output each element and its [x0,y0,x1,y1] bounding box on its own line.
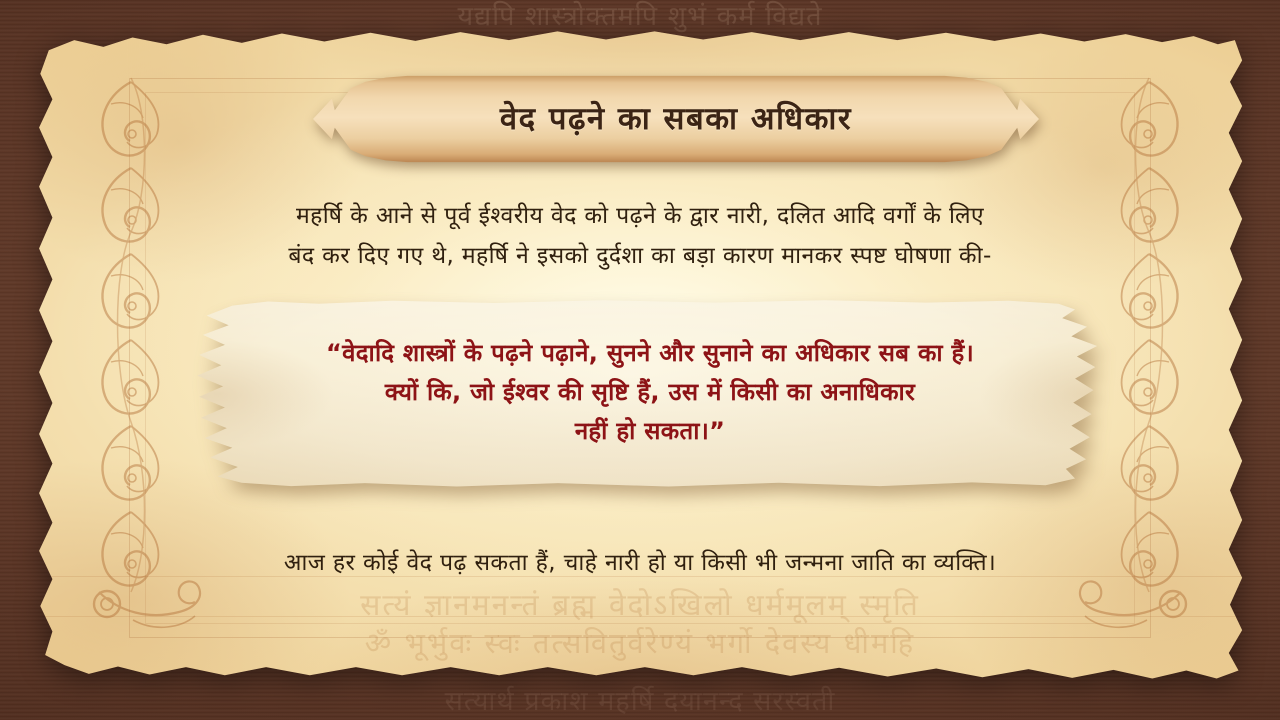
intro-paragraph: महर्षि के आने से पूर्व ईश्वरीय वेद को पढ… [140,196,1140,276]
quote-line-2: क्यों कि, जो ईश्वर की सृष्टि हैं, उस में… [385,373,915,412]
quote-panel: “वेदादि शास्त्रों के पढ़ने पढ़ाने, सुनने… [190,298,1110,490]
closing-line: आज हर कोई वेद पढ़ सकता हैं, चाहे नारी हो… [140,544,1140,582]
manuscript-watermark-line-4: ॐ भूर्भुवः स्वः तत्सवितुर्वरेण्यं भर्गो … [33,616,1247,662]
slide-canvas: यद्यपि शास्त्रोक्तमपि शुभं कर्म विद्यते … [0,0,1280,720]
quote-text: “वेदादि शास्त्रों के पढ़ने पढ़ाने, सुनने… [190,298,1110,490]
title-banner: वेद पढ़ने का सबका अधिकार [313,75,1039,163]
intro-line-2: बंद कर दिए गए थे, महर्षि ने इसको दुर्दशा… [140,236,1140,276]
intro-line-1: महर्षि के आने से पूर्व ईश्वरीय वेद को पढ… [140,196,1140,236]
page-title: वेद पढ़ने का सबका अधिकार [313,75,1039,163]
manuscript-watermark-line-3: सत्यं ज्ञानमनन्तं ब्रह्म वेदोऽखिलो धर्मम… [33,576,1247,624]
quote-line-3: नहीं हो सकता।” [575,412,725,451]
quote-line-1: “वेदादि शास्त्रों के पढ़ने पढ़ाने, सुनने… [326,334,974,373]
